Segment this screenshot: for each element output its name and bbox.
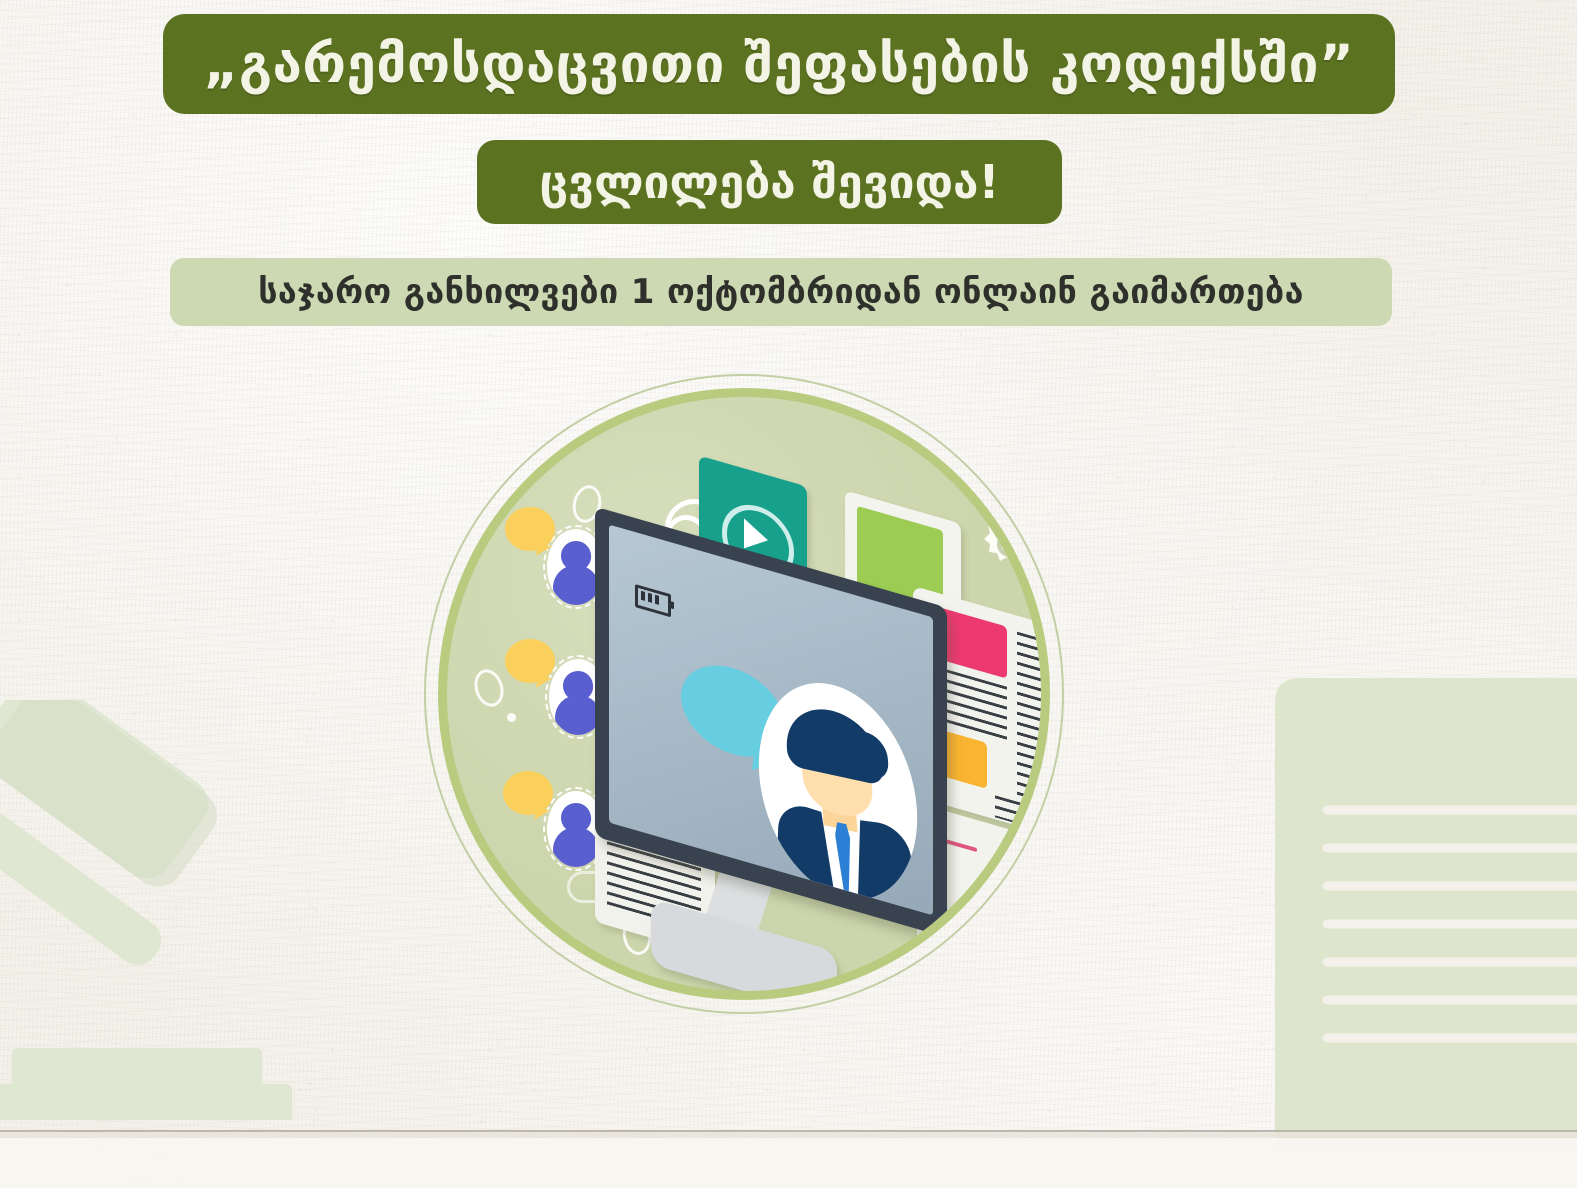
- decorative-oval: [470, 666, 508, 711]
- person-hair: [784, 700, 884, 786]
- avatar-shoulders: [553, 827, 599, 867]
- desktop-monitor: [595, 557, 1025, 1000]
- illustration-circle: [438, 388, 1050, 1000]
- battery-icon: [635, 584, 671, 617]
- speaker-portrait: [752, 667, 924, 915]
- monitor-screen: [609, 525, 933, 916]
- decorative-dot: [507, 713, 516, 722]
- speech-bubble-2: [505, 639, 555, 683]
- monitor-frame: [595, 507, 947, 938]
- headline-banner-title: „გარემოსდაცვითი შეფასების კოდექსში”: [163, 14, 1395, 114]
- headline-banner-note: საჯარო განხილვები 1 ოქტომბრიდან ონლაინ გ…: [170, 258, 1392, 326]
- speech-bubble-1: [505, 507, 555, 551]
- speech-bubble-3: [503, 771, 553, 815]
- illustration-circle-fill: [447, 397, 1041, 991]
- headline-banner-subtitle: ცვლილება შევიდა!: [477, 140, 1062, 224]
- avatar-shoulders: [553, 565, 599, 605]
- headline-subtitle-text: ცვლილება შევიდა!: [540, 155, 1000, 209]
- headline-title-text: „გარემოსდაცვითი შეფასების კოდექსში”: [204, 34, 1355, 95]
- gavel-watermark: [0, 700, 320, 1120]
- document-watermark: [1255, 660, 1577, 1150]
- poster-bottom-edge: [0, 1130, 1577, 1188]
- poster-root: „გარემოსდაცვითი შეფასების კოდექსში” ცვლი…: [0, 0, 1577, 1188]
- headline-note-text: საჯარო განხილვები 1 ოქტომბრიდან ონლაინ გ…: [258, 272, 1304, 312]
- online-hearing-illustration: [424, 374, 1064, 1014]
